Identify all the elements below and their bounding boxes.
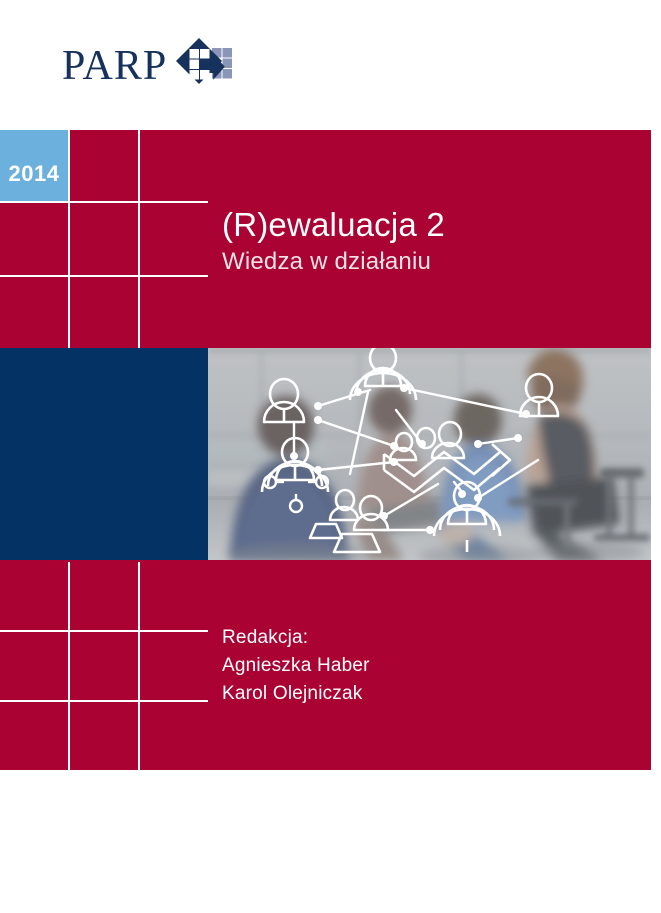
- grid-cell: [0, 277, 68, 348]
- grid-cell: [140, 562, 208, 630]
- grid-cell: [70, 130, 138, 201]
- cover-subtitle: Wiedza w działaniu: [222, 248, 642, 277]
- grid-cell: [70, 702, 138, 770]
- grid-cell: [0, 702, 68, 770]
- title-area: (R)ewaluacja 2 Wiedza w działaniu: [222, 206, 642, 277]
- decorative-grid-top: 2014: [0, 130, 208, 348]
- parp-logo: PARP: [62, 38, 233, 94]
- cover-title: (R)ewaluacja 2: [222, 206, 642, 244]
- book-cover: PARP 2014: [0, 0, 661, 913]
- cover-photo: [208, 348, 651, 560]
- grid-cell: [140, 632, 208, 700]
- grid-cell: [140, 277, 208, 348]
- navy-accent-block: [0, 348, 208, 560]
- credits-label: Redakcja:: [222, 624, 622, 652]
- photo-scene: [208, 348, 651, 560]
- decorative-grid-bottom: [0, 562, 208, 770]
- cover-color-field: 2014 (R)ewaluacja 2 Wiedza w działaniu: [0, 130, 651, 770]
- year-cell: 2014: [0, 130, 68, 201]
- grid-cell: [70, 277, 138, 348]
- grid-cell: [0, 632, 68, 700]
- grid-cell: [70, 203, 138, 274]
- grid-cell: [140, 702, 208, 770]
- people-network-diagram-icon: [208, 348, 651, 560]
- editor-name: Agnieszka Haber: [222, 652, 622, 680]
- grid-cell: [0, 562, 68, 630]
- grid-cell: [70, 562, 138, 630]
- year-label: 2014: [9, 147, 60, 185]
- grid-cell: [70, 632, 138, 700]
- editor-name: Karol Olejniczak: [222, 680, 622, 708]
- parp-wordmark: PARP: [62, 45, 167, 87]
- grid-cell: [140, 130, 208, 201]
- publisher-logo-area: PARP: [0, 0, 661, 130]
- grid-cell: [140, 203, 208, 274]
- grid-cell: [0, 203, 68, 274]
- parp-diamond-emblem-icon: [175, 37, 233, 95]
- editors-credits: Redakcja: Agnieszka Haber Karol Olejnicz…: [222, 624, 622, 708]
